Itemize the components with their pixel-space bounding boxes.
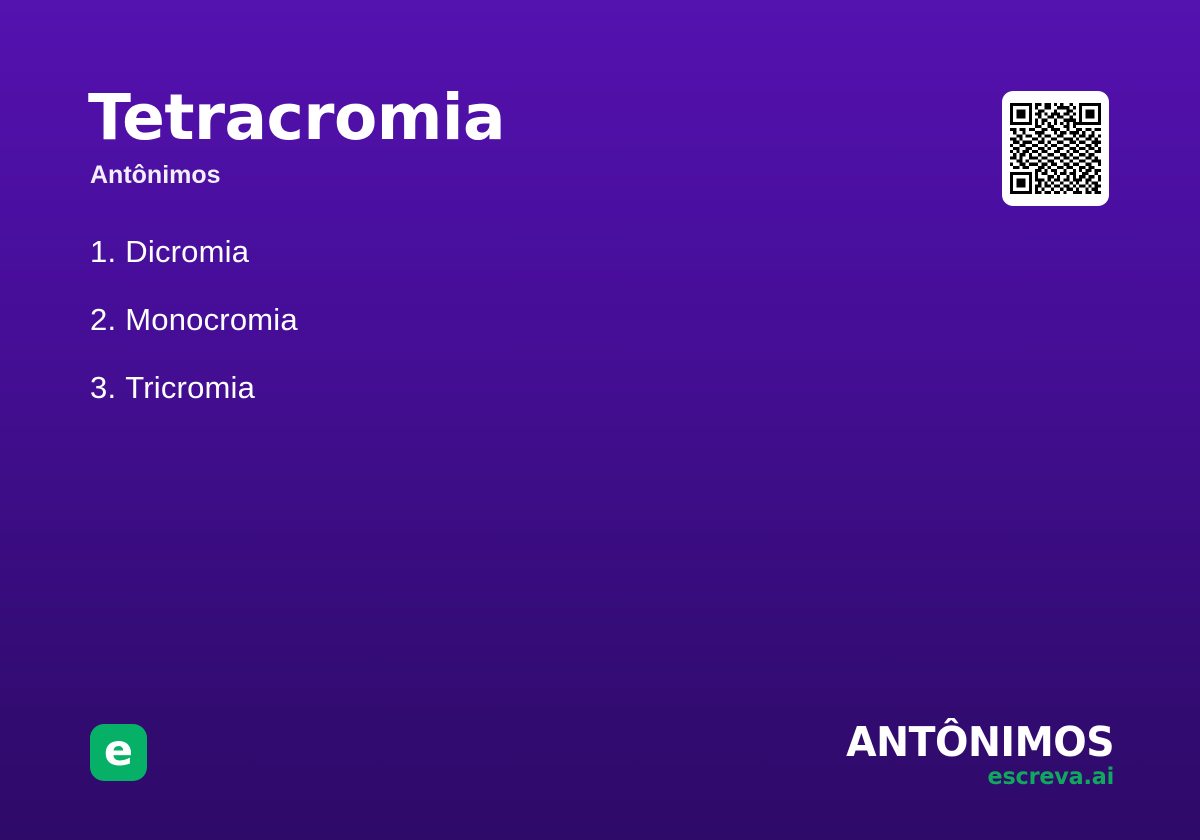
list-item-index: 2. bbox=[90, 304, 116, 335]
brand-wordmark: ANTÔNIMOS escreva.ai bbox=[835, 722, 1114, 789]
escreva-e-logo-icon[interactable]: e bbox=[90, 724, 147, 781]
qr-code-icon bbox=[1010, 103, 1101, 194]
antonym-list: 1. Dicromia 2. Monocromia 3. Tricromia bbox=[90, 236, 910, 440]
page-title: Tetracromia bbox=[88, 86, 908, 150]
qr-code-panel[interactable] bbox=[1002, 91, 1109, 206]
list-item-word: Monocromia bbox=[125, 304, 298, 335]
list-item: 3. Tricromia bbox=[90, 372, 910, 403]
wordmark-subtitle: escreva.ai bbox=[843, 766, 1114, 789]
header-block: Tetracromia Antônimos bbox=[88, 86, 908, 190]
list-item-index: 3. bbox=[90, 372, 116, 403]
page-subtitle: Antônimos bbox=[90, 162, 908, 190]
brand-badge-letter: e bbox=[104, 730, 133, 773]
list-item-index: 1. bbox=[90, 236, 116, 267]
list-item: 2. Monocromia bbox=[90, 304, 910, 335]
antonym-card: Tetracromia Antônimos 1. Dicromia 2. Mon… bbox=[0, 0, 1200, 840]
list-item-word: Dicromia bbox=[125, 236, 249, 267]
wordmark-title: ANTÔNIMOS bbox=[846, 722, 1114, 763]
list-item-word: Tricromia bbox=[125, 372, 255, 403]
list-item: 1. Dicromia bbox=[90, 236, 910, 267]
